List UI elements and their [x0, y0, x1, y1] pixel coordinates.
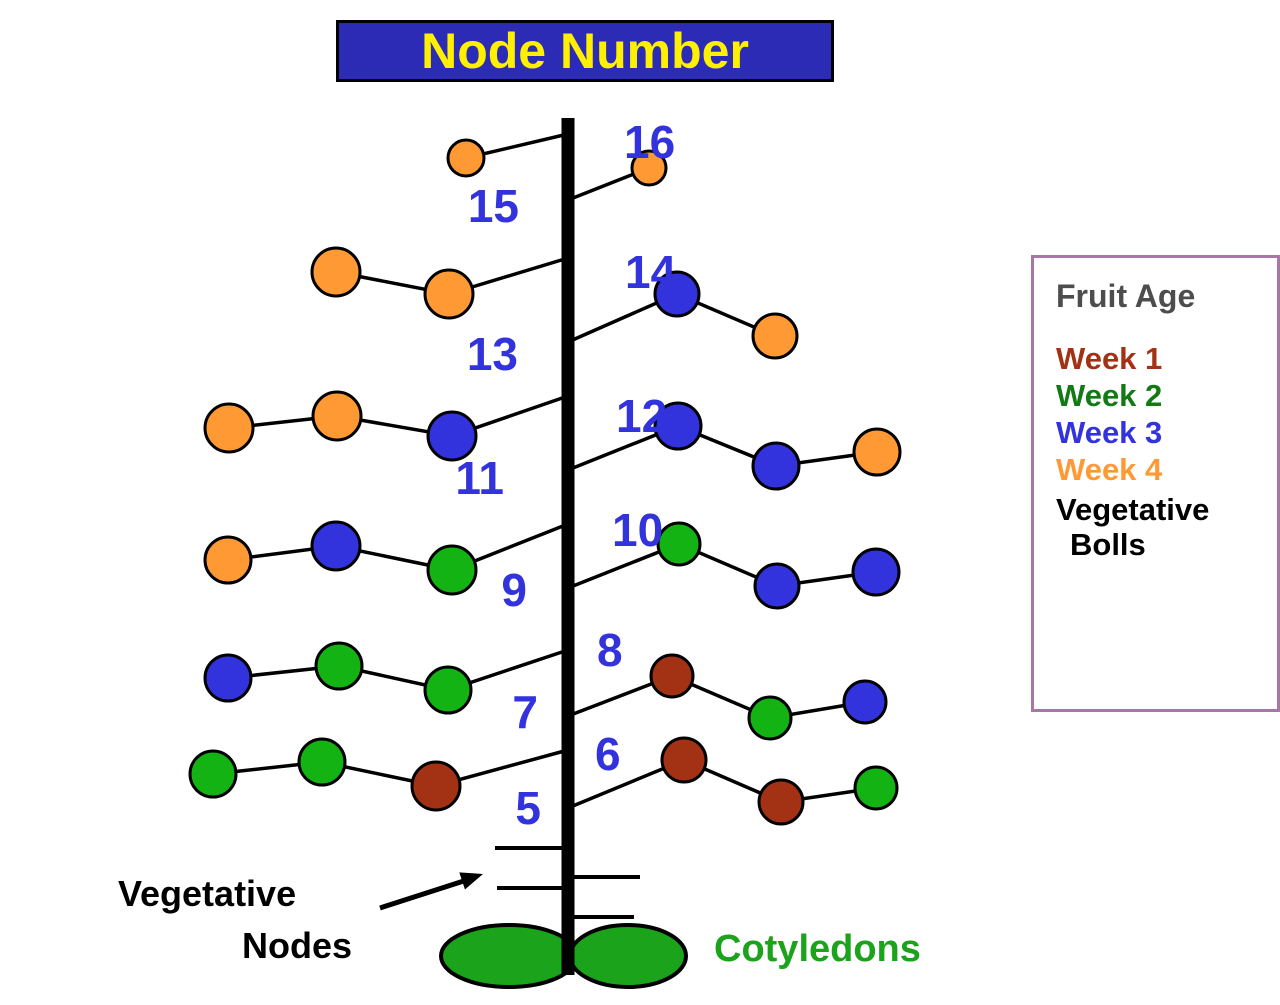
boll-node-7-pos-3-week3	[205, 655, 251, 701]
boll-node-7-pos-2-week2	[316, 643, 362, 689]
branch-line-node-11	[229, 396, 568, 436]
legend-fruit-age: Fruit Age Week 1 Week 2 Week 3 Week 4 Ve…	[1031, 255, 1280, 712]
legend-title: Fruit Age	[1056, 280, 1277, 314]
branch-line-node-5	[213, 750, 568, 786]
branch-line-node-8	[568, 676, 865, 718]
boll-node-11-pos-2-week4	[313, 392, 361, 440]
diagram-canvas: Node Number 1615141312111098765 Fruit Ag…	[0, 0, 1280, 1005]
boll-node-12-pos-2-week3	[753, 443, 799, 489]
vegetative-nodes-arrow-head	[459, 872, 483, 889]
legend-item-week-4: Week 4	[1056, 451, 1277, 488]
node-number-6: 6	[595, 728, 621, 780]
node-number-7: 7	[512, 686, 538, 738]
node-number-12: 12	[616, 390, 667, 442]
boll-node-8-pos-3-week3	[844, 681, 886, 723]
node-number-5: 5	[515, 782, 541, 834]
boll-node-7-pos-1-week2	[425, 667, 471, 713]
legend-item-week-1: Week 1	[1056, 340, 1277, 377]
boll-node-6-pos-2-week1	[759, 780, 803, 824]
boll-node-6-pos-3-week2	[855, 767, 897, 809]
node-number-14: 14	[625, 246, 677, 298]
branch-line-node-12	[568, 426, 877, 470]
node-number-8: 8	[597, 624, 623, 676]
node-number-13: 13	[467, 328, 518, 380]
boll-node-12-pos-3-week4	[854, 429, 900, 475]
boll-node-11-pos-3-week4	[205, 404, 253, 452]
vegetative-nodes-label: Vegetative Nodes	[118, 868, 368, 972]
vegetative-nodes-line2: Nodes	[118, 920, 368, 972]
node-number-9: 9	[501, 564, 527, 616]
boll-node-9-pos-1-week2	[428, 546, 476, 594]
boll-node-10-pos-2-week3	[755, 564, 799, 608]
legend-vegetative-line1: Vegetative	[1056, 492, 1209, 527]
legend-item-vegetative-bolls: Vegetative Bolls	[1056, 493, 1277, 562]
boll-node-15-pos-1-week4	[448, 140, 484, 176]
boll-node-10-pos-3-week3	[853, 549, 899, 595]
cotyledon-left	[441, 925, 577, 987]
boll-node-5-pos-2-week2	[299, 739, 345, 785]
node-number-16: 16	[624, 116, 675, 168]
boll-node-14-pos-2-week4	[753, 314, 797, 358]
boll-node-13-pos-2-week4	[312, 248, 360, 296]
boll-node-10-pos-1-week2	[658, 523, 700, 565]
cotyledons-label: Cotyledons	[714, 928, 921, 971]
node-number-11: 11	[455, 452, 504, 504]
cotyledon-right	[570, 925, 686, 987]
node-number-15: 15	[468, 180, 519, 232]
boll-node-5-pos-3-week2	[190, 751, 236, 797]
vegetative-nodes-line1: Vegetative	[118, 873, 296, 914]
boll-node-13-pos-1-week4	[425, 270, 473, 318]
boll-node-5-pos-1-week1	[412, 762, 460, 810]
legend-vegetative-line2: Bolls	[1070, 528, 1277, 563]
boll-node-8-pos-1-week1	[651, 655, 693, 697]
boll-node-9-pos-3-week4	[205, 537, 251, 583]
boll-node-8-pos-2-week2	[749, 697, 791, 739]
branch-line-node-7	[228, 650, 568, 690]
node-number-10: 10	[612, 504, 663, 556]
legend-item-week-2: Week 2	[1056, 377, 1277, 414]
boll-node-6-pos-1-week1	[662, 738, 706, 782]
legend-item-week-3: Week 3	[1056, 414, 1277, 451]
boll-node-9-pos-2-week3	[312, 522, 360, 570]
vegetative-nodes-arrow-shaft	[380, 878, 473, 908]
